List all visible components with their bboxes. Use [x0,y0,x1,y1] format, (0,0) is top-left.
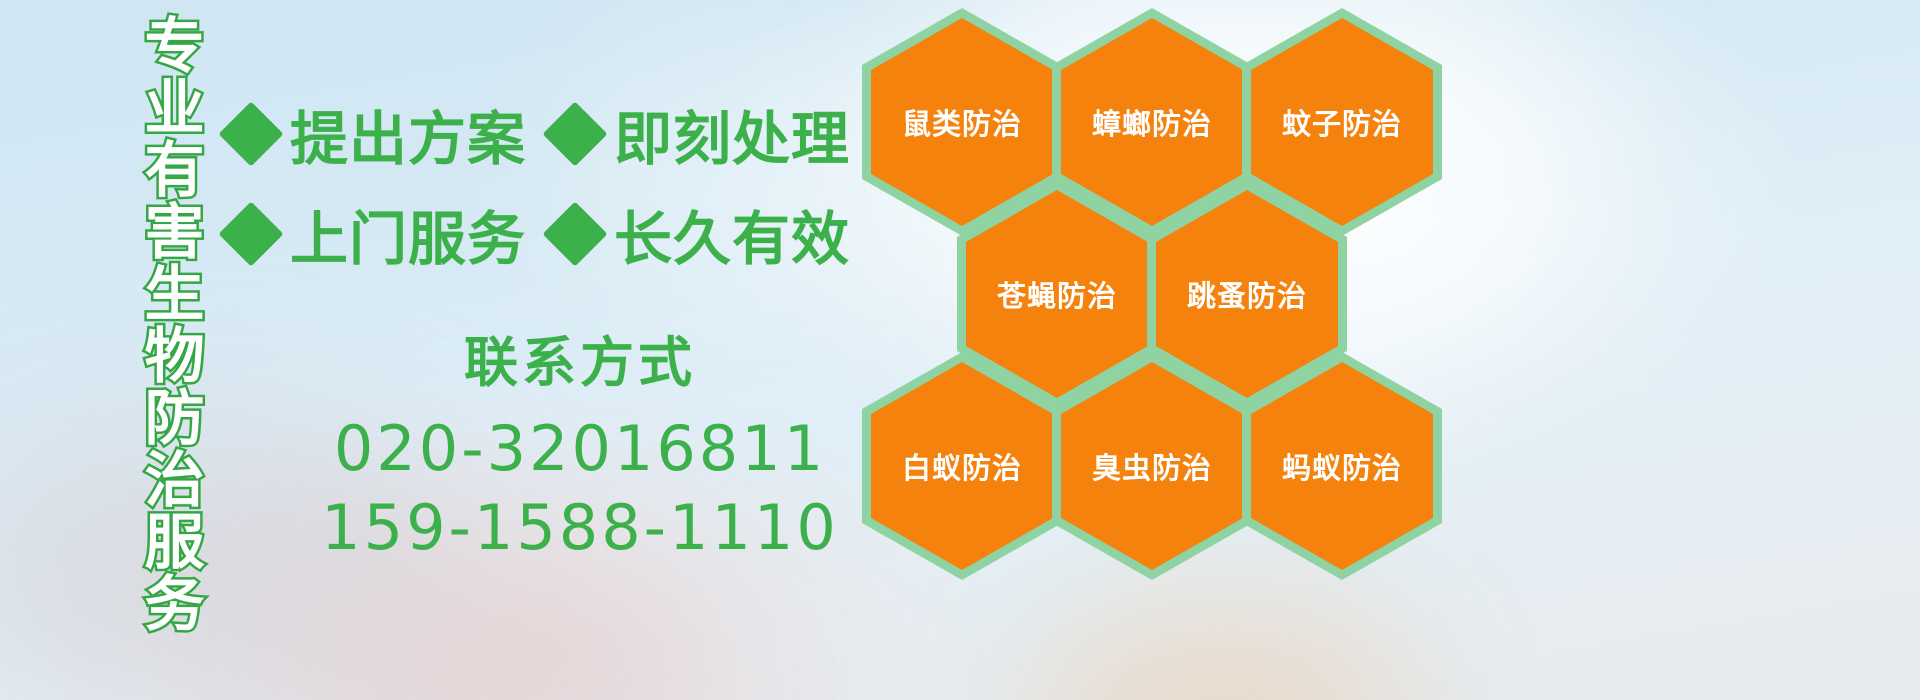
feature-label: 长久有效 [614,192,850,276]
diamond-icon [218,101,283,166]
hex-inner: 苍蝇防治 [966,190,1148,398]
service-honeycomb: 鼠类防治 蟑螂防治 蚊子防治 苍蝇防治 跳蚤防治 白蚁防治 [862,0,1462,560]
hex-label: 鼠类防治 [902,101,1022,143]
vertical-title: 专业有害生物防治服务 [104,14,200,634]
feature-item: 上门服务 [228,192,526,276]
hex-label: 苍蝇防治 [997,273,1117,315]
diamond-icon [218,201,283,266]
feature-label: 提出方案 [290,92,526,176]
contact-title: 联系方式 [300,318,860,397]
hex-label: 蚂蚁防治 [1282,445,1402,487]
phone-number-mobile[interactable]: 159-1588-1110 [300,488,860,567]
background-blob [1030,600,1410,700]
feature-row: 提出方案 即刻处理 [228,84,868,184]
phone-number-landline[interactable]: 020-32016811 [300,409,860,488]
hex-inner: 蟑螂防治 [1061,18,1243,226]
contact-block: 联系方式 020-32016811 159-1588-1110 [300,318,860,568]
feature-item: 提出方案 [228,92,526,176]
hex-label: 白蚁防治 [902,445,1022,487]
hex-label: 蚊子防治 [1282,101,1402,143]
pest-control-banner: 专业有害生物防治服务 提出方案 即刻处理 上门服务 长久有效 [0,0,1920,700]
feature-row: 上门服务 长久有效 [228,184,868,284]
feature-item: 即刻处理 [552,92,850,176]
hex-label: 跳蚤防治 [1187,273,1307,315]
diamond-icon [542,101,607,166]
feature-list: 提出方案 即刻处理 上门服务 长久有效 [228,84,868,284]
hex-inner: 鼠类防治 [871,18,1053,226]
hex-inner: 蚊子防治 [1251,18,1433,226]
hex-inner: 蚂蚁防治 [1251,362,1433,570]
feature-item: 长久有效 [552,192,850,276]
hex-label: 蟑螂防治 [1092,101,1212,143]
feature-label: 上门服务 [290,192,526,276]
diamond-icon [542,201,607,266]
feature-label: 即刻处理 [614,92,850,176]
hex-inner: 臭虫防治 [1061,362,1243,570]
hex-inner: 跳蚤防治 [1156,190,1338,398]
background-blob [300,560,720,700]
hex-inner: 白蚁防治 [871,362,1053,570]
hex-label: 臭虫防治 [1092,445,1212,487]
